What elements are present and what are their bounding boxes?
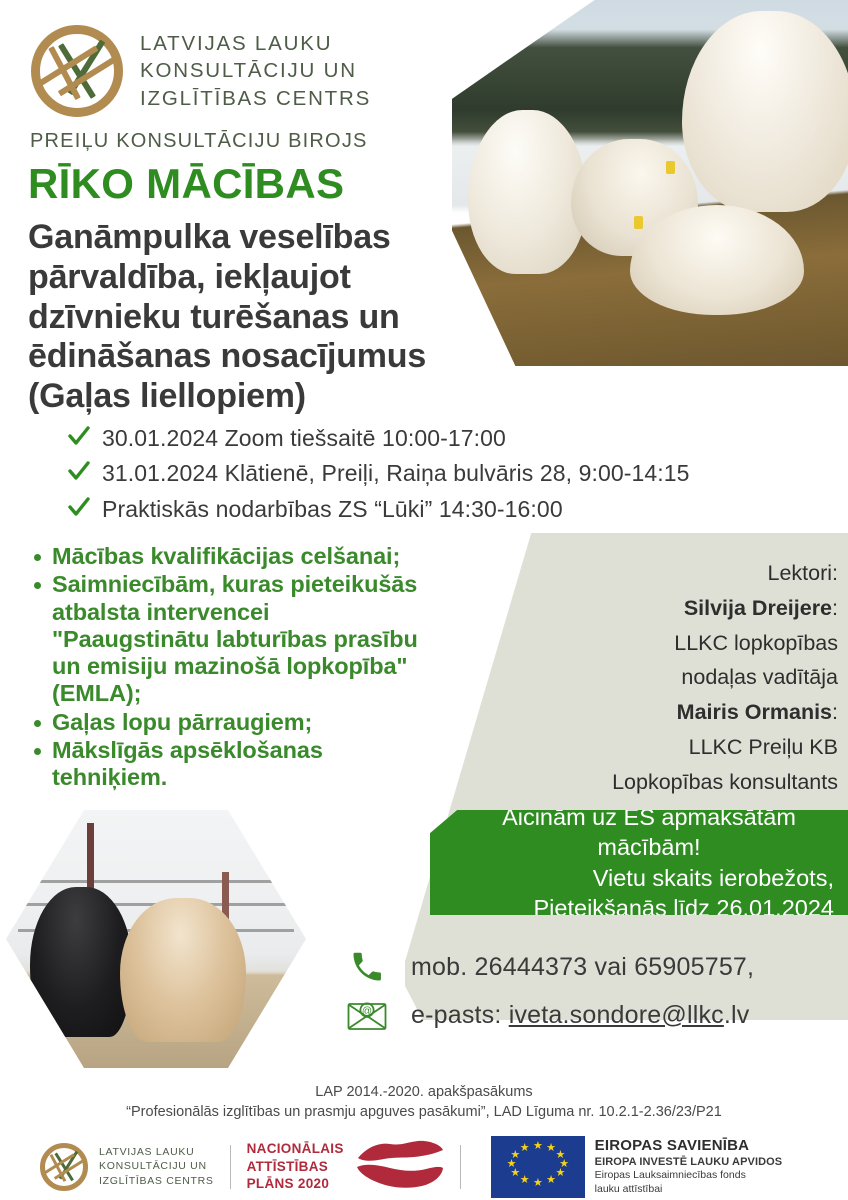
contact-block: mob. 26444373 vai 65905757, @ e-pasts: i… <box>345 946 754 1036</box>
eu-title: EIROPAS SAVIENĪBA <box>595 1137 783 1154</box>
schedule-list: 30.01.2024 Zoom tiešsaitē 10:00-17:00 31… <box>68 424 690 530</box>
schedule-item: 30.01.2024 Zoom tiešsaitē 10:00-17:00 <box>68 424 690 453</box>
lecturer-entry: Mairis Ormanis: <box>560 695 838 730</box>
lecturer-entry: Silvija Dreijere: <box>560 591 838 626</box>
course-title: Ganāmpulka veselības pārvaldība, iekļauj… <box>28 218 458 417</box>
office-name: PREIĻU KONSULTĀCIJU BIROJS <box>30 130 368 153</box>
footer-nap-text: NACIONĀLAIS ATTĪSTĪBAS PLĀNS 2020 <box>247 1140 344 1193</box>
announce-heading: RĪKO MĀCĪBAS <box>28 160 344 208</box>
llkc-logo-text: LATVIJAS LAUKU KONSULTĀCIJU UN IZGLĪTĪBA… <box>140 30 371 111</box>
cream-calf <box>120 898 246 1042</box>
lecturers-block: Lektori: Silvija Dreijere: LLKC lopkopīb… <box>560 556 838 800</box>
cta-line-1: Aicinām uz ES apmaksātām mācībām! <box>430 802 840 862</box>
check-icon <box>68 495 90 521</box>
footer-divider-2 <box>460 1145 461 1189</box>
llkc-emblem-icon <box>28 22 126 120</box>
eu-flag-icon: ★ ★ ★ ★ ★ ★ ★ ★ ★ ★ ★ ★ <box>491 1136 585 1198</box>
cow-standing-left <box>468 110 587 275</box>
footer-logo-row: LATVIJAS LAUKU KONSULTĀCIJU UN IZGLĪTĪBA… <box>0 1133 848 1200</box>
contact-phone-row: mob. 26444373 vai 65905757, <box>345 946 754 988</box>
footer-llkc-text: LATVIJAS LAUKU KONSULTĀCIJU UN IZGLĪTĪBA… <box>99 1145 214 1188</box>
two-calves-photo <box>6 810 306 1068</box>
list-item: Saimniecībām, kuras pieteikušās atbalsta… <box>28 571 528 707</box>
lecturer-name: Mairis Ormanis <box>677 700 832 724</box>
schedule-item-text: 30.01.2024 Zoom tiešsaitē 10:00-17:00 <box>102 424 506 453</box>
latvia-map-icon <box>354 1136 444 1197</box>
ear-tag-icon <box>666 161 675 174</box>
eu-subtitle-2: Eiropas Lauksaimniecības fonds lauku att… <box>595 1169 783 1195</box>
lecturer-colon: : <box>832 596 838 620</box>
charolais-cattle-photo <box>452 0 848 366</box>
schedule-item-text: 31.01.2024 Klātienē, Preiļi, Raiņa bulvā… <box>102 459 690 488</box>
audience-list: Mācības kvalifikācijas celšanai; Saimnie… <box>28 543 528 792</box>
footer-llkc-logo: LATVIJAS LAUKU KONSULTĀCIJU UN IZGLĪTĪBA… <box>38 1141 214 1193</box>
registration-callout: Aicinām uz ES apmaksātām mācībām! Vietu … <box>430 810 848 915</box>
schedule-item-text: Praktiskās nodarbības ZS “Lūki” 14:30-16… <box>102 495 563 524</box>
list-item: Mācības kvalifikācijas celšanai; <box>28 543 528 570</box>
email-address[interactable]: iveta.sondore@llkc <box>509 1001 724 1029</box>
eu-subtitle-1: EIROPA INVESTĒ LAUKU APVIDOS <box>595 1156 783 1168</box>
check-icon <box>68 424 90 450</box>
llkc-emblem-icon <box>38 1141 90 1193</box>
ear-tag-icon <box>634 216 643 229</box>
footer-nap-logo: NACIONĀLAIS ATTĪSTĪBAS PLĀNS 2020 <box>247 1136 444 1197</box>
footer-contract-line: “Profesionālās izglītības un prasmju apg… <box>0 1104 848 1120</box>
poster-root: LATVIJAS LAUKU KONSULTĀCIJU UN IZGLĪTĪBA… <box>0 0 848 1200</box>
lecturers-heading: Lektori: <box>560 556 838 591</box>
footer-divider-1 <box>230 1145 231 1189</box>
phone-text: mob. 26444373 vai 65905757, <box>411 953 754 982</box>
lecturer-role: LLKC lopkopības nodaļas vadītāja <box>560 626 838 696</box>
lecturer-name: Silvija Dreijere <box>684 596 832 620</box>
list-item: Gaļas lopu pārraugiem; <box>28 709 528 736</box>
footer-eu-logo: ★ ★ ★ ★ ★ ★ ★ ★ ★ ★ ★ ★ EIROPAS SAVIENĪB… <box>491 1136 783 1198</box>
email-label: e-pasts: <box>411 1001 509 1029</box>
schedule-item: 31.01.2024 Klātienē, Preiļi, Raiņa bulvā… <box>68 459 690 488</box>
footer-programme-line: LAP 2014.-2020. apakšpasākums <box>0 1084 848 1100</box>
email-suffix: .lv <box>724 1001 750 1029</box>
svg-text:@: @ <box>362 1006 372 1017</box>
list-item: Mākslīgās apsēklošanas tehniķiem. <box>28 737 528 792</box>
lecturer-colon: : <box>832 700 838 724</box>
black-calf <box>30 887 132 1037</box>
check-icon <box>68 459 90 485</box>
schedule-item: Praktiskās nodarbības ZS “Lūki” 14:30-16… <box>68 495 690 524</box>
email-envelope-icon: @ <box>345 994 389 1036</box>
email-text: e-pasts: iveta.sondore@llkc.lv <box>411 1001 749 1030</box>
cta-line-2: Vietu skaits ierobežots, <box>430 863 840 893</box>
cow-large-right <box>682 11 848 212</box>
llkc-logo: LATVIJAS LAUKU KONSULTĀCIJU UN IZGLĪTĪBA… <box>28 22 371 120</box>
contact-email-row: @ e-pasts: iveta.sondore@llkc.lv <box>345 994 754 1036</box>
phone-icon <box>345 946 389 988</box>
lecturer-role: LLKC Preiļu KB Lopkopības konsultants <box>560 730 838 800</box>
